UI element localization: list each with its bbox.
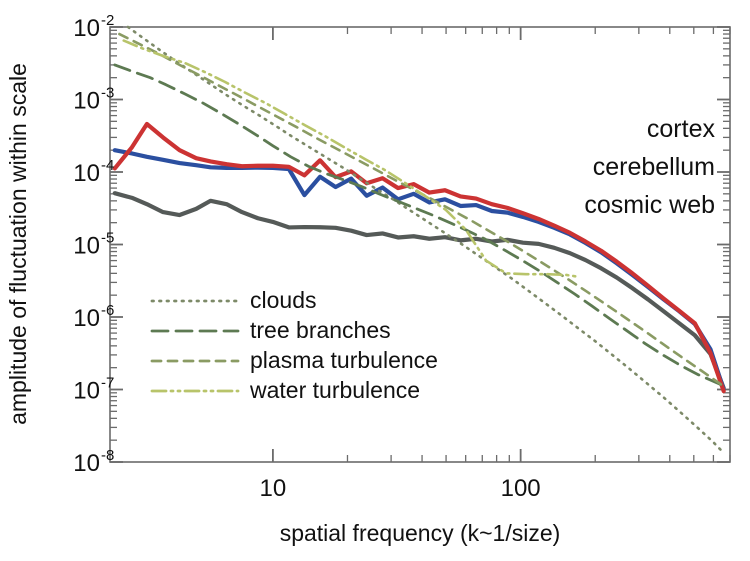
svg-text:-2: -2	[101, 12, 114, 29]
svg-text:-4: -4	[101, 157, 114, 174]
svg-text:-3: -3	[101, 85, 114, 102]
legend-label-cosmic-web: cosmic web	[584, 191, 715, 219]
svg-text:10: 10	[73, 378, 100, 405]
legend-label-cerebellum: cerebellum	[593, 153, 715, 181]
legend-label-water-turbulence: water turbulence	[249, 377, 420, 403]
svg-text:10: 10	[73, 450, 100, 477]
svg-text:10: 10	[73, 160, 100, 187]
svg-text:10: 10	[73, 15, 100, 42]
chart-figure: 10100 10-210-310-410-510-610-710-8 spati…	[0, 0, 750, 561]
x-tick-label: 10	[260, 475, 287, 502]
svg-text:10: 10	[73, 88, 100, 115]
svg-text:10: 10	[73, 305, 100, 332]
legend-label-tree-branches: tree branches	[250, 317, 391, 343]
x-axis-title: spatial frequency (k~1/size)	[280, 520, 561, 546]
svg-text:-8: -8	[101, 447, 114, 464]
legend-label-clouds: clouds	[250, 287, 316, 313]
svg-text:10: 10	[73, 233, 100, 260]
svg-text:-5: -5	[101, 230, 114, 247]
svg-text:-6: -6	[101, 302, 114, 319]
legend-label-cortex: cortex	[647, 115, 716, 143]
legend-label-plasma-turbulence: plasma turbulence	[250, 347, 438, 373]
x-tick-label: 100	[501, 475, 541, 502]
svg-text:-7: -7	[101, 375, 114, 392]
chart-svg: 10100 10-210-310-410-510-610-710-8 spati…	[0, 0, 750, 561]
y-axis-title: amplitude of fluctuation within scale	[5, 63, 31, 425]
